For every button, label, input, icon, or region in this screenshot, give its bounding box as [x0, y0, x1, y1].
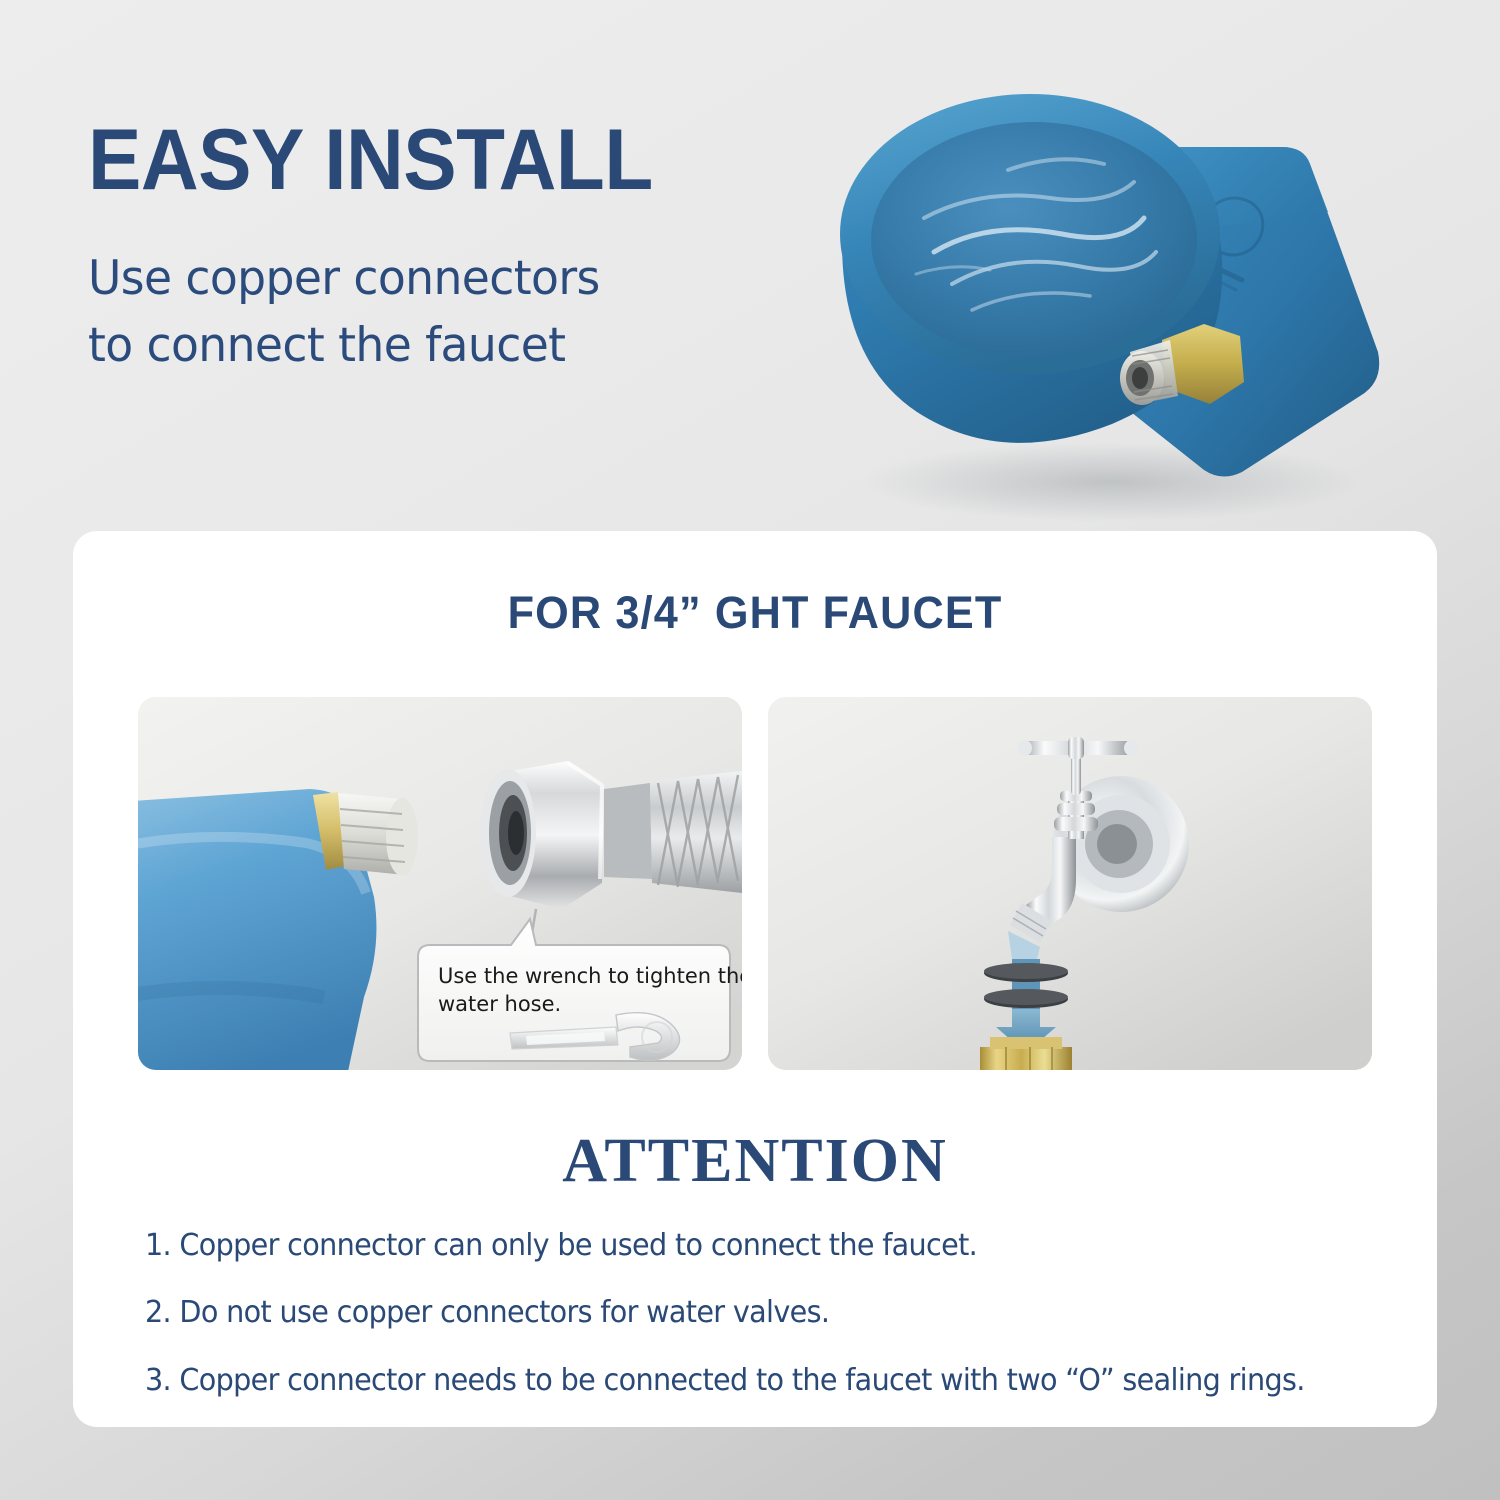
hero-text-block: EASY INSTALL Use copper connectors to co… [88, 118, 788, 380]
hero-subtitle: Use copper connectors to connect the fau… [88, 246, 767, 379]
chrome-hex-nut [480, 761, 604, 909]
hero-subtitle-line-2: to connect the faucet [88, 313, 767, 380]
braided-hose [604, 771, 742, 893]
card-title: FOR 3/4” GHT FAUCET [100, 587, 1409, 639]
copper-connector [980, 1037, 1072, 1070]
photo-panel-group: Use the wrench to tighten the water hose… [138, 697, 1372, 1070]
bowl-threaded-outlet [338, 793, 418, 876]
faucet-connector-illustration [768, 697, 1372, 1070]
o-ring-2 [984, 989, 1068, 1008]
panel-faucet-assembly [768, 697, 1372, 1070]
panel-bowl-to-hose: Use the wrench to tighten the water hose… [138, 697, 742, 1070]
product-hero-image [812, 52, 1432, 522]
install-instructions-card: FOR 3/4” GHT FAUCET [73, 531, 1437, 1427]
bowl-hose-connection-illustration: Use the wrench to tighten the water hose… [138, 697, 742, 1070]
faucet-stem [1071, 755, 1081, 795]
o-ring-1 [984, 963, 1068, 982]
attention-list: 1. Copper connector can only be used to … [145, 1227, 1375, 1429]
water-bowl-illustration [812, 52, 1432, 522]
list-item: 2. Do not use copper connectors for wate… [145, 1294, 1320, 1332]
hero-subtitle-line-1: Use copper connectors [88, 246, 767, 313]
attention-heading: ATTENTION [73, 1126, 1437, 1197]
callout-text-line-2: water hose. [438, 992, 561, 1016]
page-title: EASY INSTALL [88, 118, 739, 202]
callout-text-line-1: Use the wrench to tighten the [438, 964, 742, 988]
bowl-water [871, 122, 1197, 358]
product-shadow [862, 442, 1362, 522]
list-item: 1. Copper connector can only be used to … [145, 1227, 1320, 1265]
list-item: 3. Copper connector needs to be connecte… [145, 1362, 1320, 1400]
